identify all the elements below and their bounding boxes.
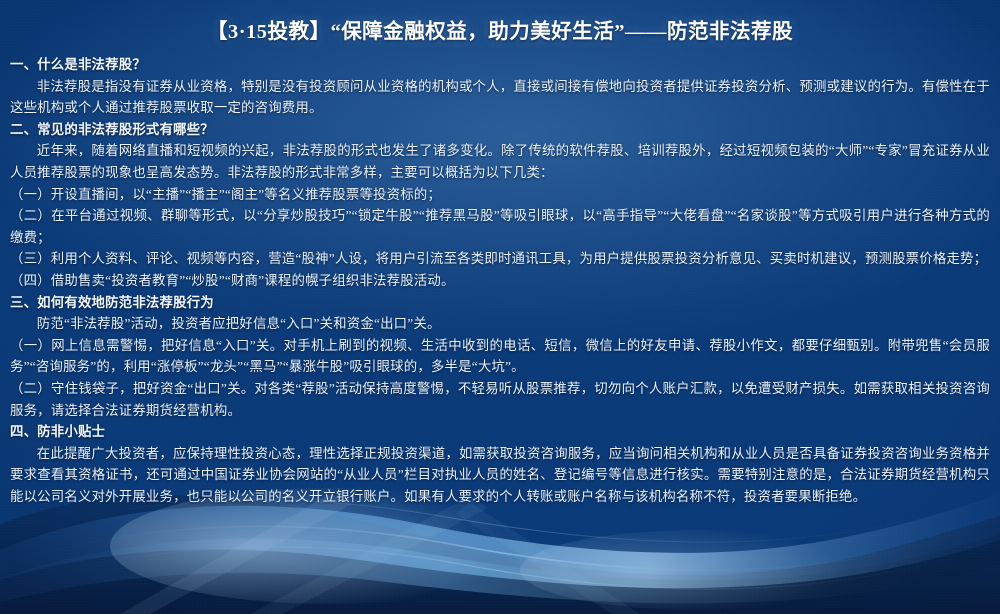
section-1-paragraph-1: 非法荐股是指没有证券从业资格，特别是没有投资顾问从业资格的机构或个人，直接或间接…	[10, 76, 990, 119]
section-2-item-2: （二）在平台通过视频、群聊等形式，以“分享炒股技巧”“锁定牛股”“推荐黑马股”等…	[10, 205, 990, 248]
document-body: 一、什么是非法荐股？ 非法荐股是指没有证券从业资格，特别是没有投资顾问从业资格的…	[10, 54, 990, 507]
section-3-item-2: （二）守住钱袋子，把好资金“出口”关。对各类“荐股”活动保持高度警惕，不轻易听从…	[10, 378, 990, 421]
section-heading-3: 三、如何有效地防范非法荐股行为	[10, 292, 990, 314]
section-4-paragraph-1: 在此提醒广大投资者，应保持理性投资心态，理性选择正规投资渠道，如需获取投资咨询服…	[10, 443, 990, 508]
section-2-item-1: （一）开设直播间，以“主播”“播主”“阁主”等名义推荐股票等投资标的；	[10, 184, 990, 206]
section-2-paragraph-1: 近年来，随着网络直播和短视频的兴起，非法荐股的形式也发生了诸多变化。除了传统的软…	[10, 140, 990, 183]
section-heading-2: 二、常见的非法荐股形式有哪些？	[10, 119, 990, 141]
section-3-paragraph-1: 防范“非法荐股”活动，投资者应把好信息“入口”关和资金“出口”关。	[10, 313, 990, 335]
section-2-item-4: （四）借助售卖“投资者教育”“炒股”“财商”课程的幌子组织非法荐股活动。	[10, 270, 990, 292]
title-container: 【3·15投教】“保障金融权益，助力美好生活”——防范非法荐股	[0, 14, 1000, 44]
section-heading-4: 四、防非小贴士	[10, 421, 990, 443]
section-3-item-1: （一）网上信息需警惕，把好信息“入口”关。对手机上刷到的视频、生活中收到的电话、…	[10, 335, 990, 378]
section-2-item-3: （三）利用个人资料、评论、视频等内容，营造“股神”人设，将用户引流至各类即时通讯…	[10, 248, 990, 270]
page-title: 【3·15投教】“保障金融权益，助力美好生活”——防范非法荐股	[207, 14, 793, 44]
section-heading-1: 一、什么是非法荐股？	[10, 54, 990, 76]
poster-root: 【3·15投教】“保障金融权益，助力美好生活”——防范非法荐股 一、什么是非法荐…	[0, 0, 1000, 614]
